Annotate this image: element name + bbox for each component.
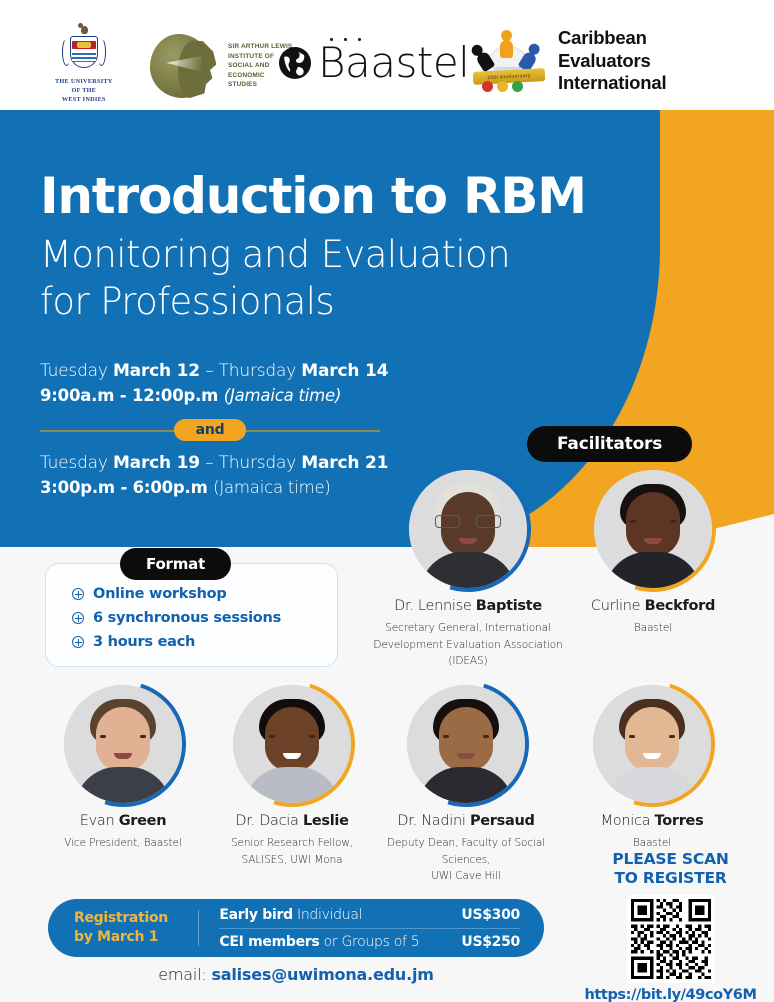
registration-deadline: Registration by March 1: [48, 909, 198, 947]
facilitator-role-line: Vice President, Baastel: [28, 835, 218, 851]
qr-title: PLEASE SCAN TO REGISTER: [578, 850, 763, 889]
and-divider: and: [40, 419, 380, 441]
facilitator-last-name: Green: [119, 813, 167, 829]
facilitator-last-name: Baptiste: [476, 598, 542, 614]
session-1-date-separator: – Thursday: [200, 361, 301, 381]
qr-title-line-1: PLEASE SCAN: [578, 850, 763, 869]
facilitator-role: Deputy Dean, Faculty of Social Sciences,…: [371, 835, 561, 884]
facilitator-card: Dr. Nadini Persaud Deputy Dean, Faculty …: [371, 685, 561, 884]
session-2-date: Tuesday March 19 – Thursday March 21: [40, 451, 410, 476]
facilitator-role-line: UWI Cave Hill: [371, 868, 561, 884]
format-item: 6 synchronous sessions: [72, 610, 337, 626]
registration-deadline-line-2: by March 1: [74, 928, 198, 947]
facilitator-role: Vice President, Baastel: [28, 835, 218, 851]
session-dates: Tuesday March 12 – Thursday March 14 9:0…: [40, 359, 410, 500]
qr-code-image[interactable]: [627, 895, 715, 983]
session-2-date-separator: – Thursday: [200, 453, 301, 473]
facilitator-card: Evan Green Vice President, Baastel: [28, 685, 218, 852]
salises-head-icon: [150, 30, 224, 102]
registration-url[interactable]: https://bit.ly/49coY6M: [578, 987, 763, 1002]
session-1-time-range: 9:00a.m - 12:00p.m: [40, 386, 224, 405]
contact-email-line: email: salises@uwimona.edu.jm: [48, 965, 544, 984]
contact-email-prefix: email:: [158, 965, 211, 984]
facilitator-last-name: Torres: [655, 813, 704, 829]
facilitator-role-line: Development Evaluation Association: [373, 637, 563, 653]
salises-logo: SIR ARTHUR LEWIS INSTITUTE OF SOCIAL AND…: [150, 30, 292, 102]
facilitator-role-line: Baastel: [558, 620, 748, 636]
session-2-time-range: 3:00p.m - 6:00p.m: [40, 478, 213, 497]
logo-bar: THE UNIVERSITY OF THE WEST INDIES SIR AR…: [0, 0, 774, 110]
format-item-label: 6 synchronous sessions: [93, 610, 281, 626]
format-item-label: 3 hours each: [93, 634, 195, 650]
registration-box: Registration by March 1 Early bird Indiv…: [48, 899, 544, 957]
facilitator-role: Baastel: [558, 620, 748, 636]
uwi-logo: THE UNIVERSITY OF THE WEST INDIES: [55, 22, 113, 105]
avatar: [64, 685, 182, 803]
session-1-date-prefix: Tuesday: [40, 361, 113, 381]
facilitator-first-name: Dr. Lennise: [394, 598, 476, 614]
facilitator-card: Dr. Dacia Leslie Senior Research Fellow,…: [197, 685, 387, 868]
avatar: [233, 685, 351, 803]
session-1-start-date: March 12: [113, 361, 200, 381]
session-1-timezone: (Jamaica time): [224, 386, 342, 405]
facilitator-role: Senior Research Fellow, SALISES, UWI Mon…: [197, 835, 387, 868]
pricing-table: Early bird Individual US$300 CEI members…: [199, 902, 544, 955]
avatar-photo: [593, 685, 711, 803]
pricing-label-bold: CEI members: [219, 934, 319, 950]
session-2-start-date: March 19: [113, 453, 200, 473]
cei-logo-text: Caribbean Evaluators International: [558, 27, 666, 95]
facilitator-first-name: Dr. Nadini: [397, 813, 470, 829]
facilitator-first-name: Dr. Dacia: [235, 813, 303, 829]
avatar: [593, 685, 711, 803]
pricing-amount: US$250: [461, 934, 520, 950]
pricing-label-bold: Early bird: [219, 907, 292, 923]
baastel-logo: Baastel: [278, 42, 469, 84]
facilitator-name: Dr. Dacia Leslie: [197, 813, 387, 830]
cei-line-2: Evaluators: [558, 50, 666, 73]
facilitator-first-name: Monica: [601, 813, 655, 829]
plus-circle-icon: [72, 588, 84, 600]
facilitator-first-name: Evan: [80, 813, 119, 829]
qr-register-block: PLEASE SCAN TO REGISTER: [578, 850, 763, 1002]
contact-email-address[interactable]: salises@uwimona.edu.jm: [211, 965, 433, 984]
pricing-label-rest: Individual: [293, 907, 362, 923]
session-2-end-date: March 21: [301, 453, 388, 473]
baastel-wordmark: Baastel: [318, 42, 469, 84]
page-subtitle: Monitoring and Evaluation for Profession…: [40, 231, 640, 326]
avatar-photo: [233, 685, 351, 803]
poster-root: THE UNIVERSITY OF THE WEST INDIES SIR AR…: [0, 0, 774, 1002]
registration-deadline-line-1: Registration: [74, 909, 198, 928]
facilitator-role-line: Senior Research Fellow,: [197, 835, 387, 851]
pricing-row: CEI members or Groups of 5 US$250: [219, 929, 520, 955]
uwi-line-3: WEST INDIES: [55, 96, 113, 105]
facilitator-name: Curline Beckford: [558, 598, 748, 615]
pricing-label: Early bird Individual: [219, 907, 461, 923]
facilitators-section-pill: Facilitators: [527, 426, 692, 462]
session-1-end-date: March 14: [301, 361, 388, 381]
format-item: 3 hours each: [72, 634, 337, 650]
session-2-time: 3:00p.m - 6:00p.m (Jamaica time): [40, 476, 410, 500]
uwi-line-1: THE UNIVERSITY: [55, 78, 113, 87]
baastel-dots-icon: [330, 38, 361, 41]
session-2-date-prefix: Tuesday: [40, 453, 113, 473]
facilitator-role-line: SALISES, UWI Mona: [197, 852, 387, 868]
qr-title-line-2: TO REGISTER: [578, 869, 763, 888]
session-1-time: 9:00a.m - 12:00p.m (Jamaica time): [40, 384, 410, 408]
format-section-pill: Format: [120, 548, 231, 580]
page-title: Introduction to RBM: [40, 170, 640, 223]
facilitator-last-name: Persaud: [470, 813, 535, 829]
page-subtitle-line-2: for Professionals: [40, 278, 640, 325]
and-pill-label: and: [174, 419, 247, 441]
avatar-photo: [407, 685, 525, 803]
plus-circle-icon: [72, 636, 84, 648]
format-item: Online workshop: [72, 586, 337, 602]
facilitator-role-line: Deputy Dean, Faculty of Social Sciences,: [371, 835, 561, 868]
facilitator-first-name: Curline: [591, 598, 645, 614]
globe-icon: [278, 46, 312, 80]
avatar-photo: [64, 685, 182, 803]
facilitator-role-line: (IDEAS): [373, 653, 563, 669]
facilitator-last-name: Beckford: [645, 598, 716, 614]
pricing-row: Early bird Individual US$300: [219, 902, 520, 928]
facilitator-name: Monica Torres: [557, 813, 747, 830]
pricing-amount: US$300: [461, 907, 520, 923]
session-2-timezone: (Jamaica time): [213, 478, 331, 497]
facilitator-card: Monica Torres Baastel: [557, 685, 747, 852]
uwi-logo-text: THE UNIVERSITY OF THE WEST INDIES: [55, 78, 113, 105]
cei-line-1: Caribbean: [558, 27, 666, 50]
uwi-crest-icon: [61, 22, 107, 74]
facilitator-name: Evan Green: [28, 813, 218, 830]
uwi-line-2: OF THE: [55, 87, 113, 96]
cei-emblem-icon: 10th Anniversary: [470, 30, 548, 92]
session-1-date: Tuesday March 12 – Thursday March 14: [40, 359, 410, 384]
cei-line-3: International: [558, 72, 666, 95]
plus-circle-icon: [72, 612, 84, 624]
avatar: [407, 685, 525, 803]
facilitator-name: Dr. Lennise Baptiste: [373, 598, 563, 615]
pricing-label-rest: or Groups of 5: [319, 934, 419, 950]
facilitator-name: Dr. Nadini Persaud: [371, 813, 561, 830]
facilitator-last-name: Leslie: [303, 813, 349, 829]
page-subtitle-line-1: Monitoring and Evaluation: [40, 231, 640, 278]
pricing-label: CEI members or Groups of 5: [219, 934, 461, 950]
facilitator-role: Secretary General, International Develop…: [373, 620, 563, 669]
facilitator-role-line: Secretary General, International: [373, 620, 563, 636]
cei-logo: 10th Anniversary Caribbean Evaluators In…: [470, 27, 666, 95]
format-item-label: Online workshop: [93, 586, 227, 602]
